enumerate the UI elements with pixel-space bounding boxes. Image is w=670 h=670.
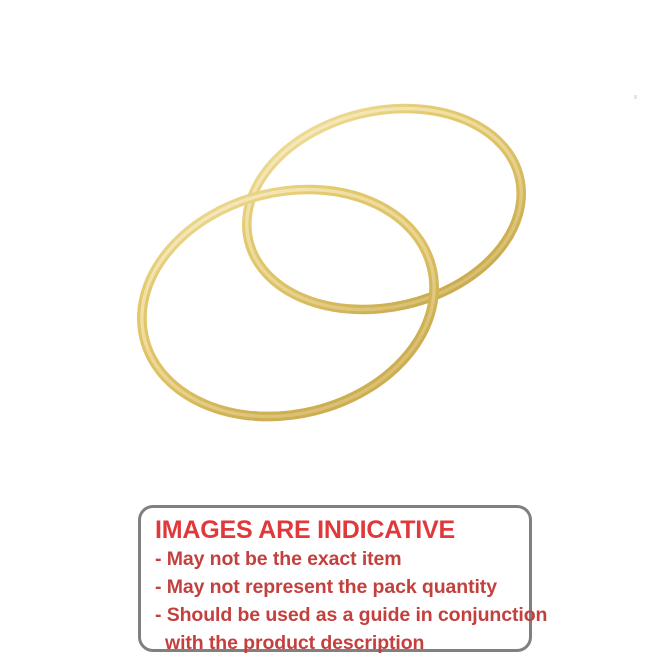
notice-line-4: with the product description <box>155 629 529 657</box>
image-artifact-speck <box>634 95 637 99</box>
notice-line-3: - Should be used as a guide in conjuncti… <box>155 601 529 629</box>
product-image-canvas: IMAGES ARE INDICATIVE - May not be the e… <box>0 0 670 670</box>
notice-heading: IMAGES ARE INDICATIVE <box>155 516 529 544</box>
notice-line-2: - May not represent the pack quantity <box>155 573 529 601</box>
notice-line-1: - May not be the exact item <box>155 545 529 573</box>
product-photo <box>0 0 670 490</box>
images-are-indicative-notice: IMAGES ARE INDICATIVE - May not be the e… <box>138 505 532 652</box>
o-rings-illustration <box>0 0 670 490</box>
